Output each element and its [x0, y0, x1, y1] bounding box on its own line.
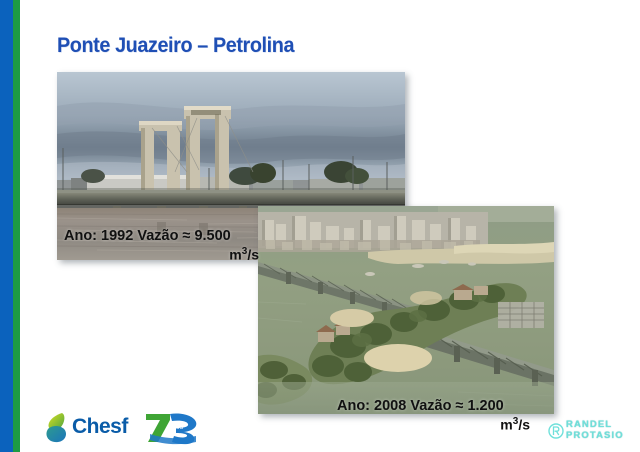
page-title: Ponte Juazeiro – Petrolina [57, 34, 294, 58]
caption-1992: Ano: 1992 Vazão ≈ 9.500 m3/s [64, 228, 259, 263]
bridge-2008-illustration [258, 206, 554, 414]
chesf-logo: Chesf [42, 409, 142, 447]
randel-monogram-icon [548, 423, 564, 439]
anniversary-73-icon: anos [144, 410, 200, 446]
left-accent-bar-blue [0, 0, 13, 452]
anniversary-anos-label: anos [168, 424, 184, 431]
bridge-2008-photo [258, 206, 554, 414]
caption-1992-text: Ano: 1992 Vazão ≈ 9.500 [64, 228, 231, 244]
anniversary-73-logo: anos [144, 410, 200, 446]
randel-protasio-logo: RANDEL PROTASIO [548, 419, 634, 445]
caption-2008-text: Ano: 2008 Vazão ≈ 1.200 [337, 398, 504, 414]
randel-line-1: RANDEL [566, 419, 624, 430]
randel-wordmark: RANDEL PROTASIO [566, 419, 624, 441]
slide-canvas: Ponte Juazeiro – Petrolina [0, 0, 640, 452]
chesf-leaf-icon [42, 409, 70, 447]
caption-2008: Ano: 2008 Vazão ≈ 1.200 m3/s [337, 398, 530, 433]
left-accent-bar-green [13, 0, 20, 452]
chesf-wordmark: Chesf [72, 415, 128, 439]
caption-1992-unit: m3/s [64, 246, 259, 263]
randel-line-2: PROTASIO [566, 430, 624, 441]
caption-2008-unit: m3/s [337, 416, 530, 433]
